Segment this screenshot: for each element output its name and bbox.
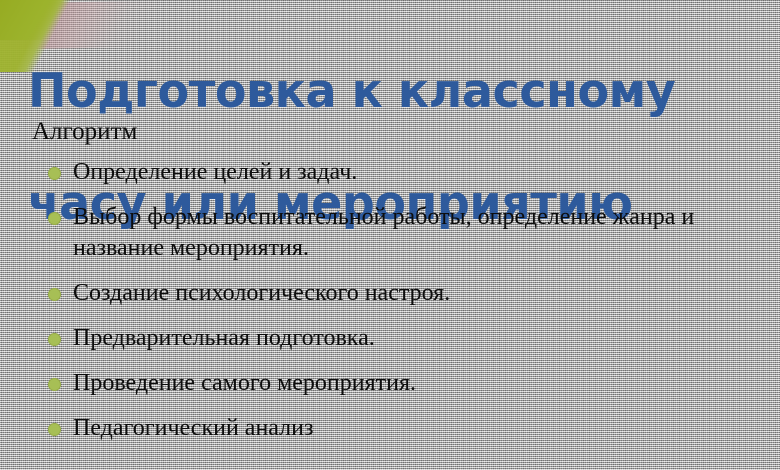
list-item-label: Предварительная подготовка. — [73, 325, 375, 351]
list-item: Выбор формы воспитательной работы, опред… — [32, 202, 744, 264]
list-item: Определение целей и задач. — [32, 157, 744, 188]
bullet-circle-icon — [48, 212, 61, 225]
body-heading: Алгоритм — [32, 118, 137, 146]
list-item-label: Педагогический анализ — [73, 415, 313, 441]
list-item: Предварительная подготовка. — [32, 323, 744, 354]
list-item-label: Определение целей и задач. — [73, 159, 357, 185]
list-item-label: Проведение самого мероприятия. — [73, 370, 416, 396]
list-item-label: Выбор формы воспитательной работы, опред… — [73, 204, 694, 261]
bullet-circle-icon — [48, 167, 61, 180]
list-item: Создание психологического настроя. — [32, 278, 744, 309]
slide-title-line-1: Подготовка к классному — [28, 64, 738, 120]
list-item: Педагогический анализ — [32, 413, 744, 444]
list-item: Проведение самого мероприятия. — [32, 368, 744, 399]
bullet-circle-icon — [48, 423, 61, 436]
bullet-circle-icon — [48, 288, 61, 301]
bullet-circle-icon — [48, 378, 61, 391]
presentation-slide: Подготовка к классному часу или мероприя… — [0, 0, 780, 470]
list-item-label: Создание психологического настроя. — [73, 280, 450, 306]
slide-content: Подготовка к классному часу или мероприя… — [0, 0, 780, 470]
bullet-circle-icon — [48, 333, 61, 346]
algorithm-bullet-list: Определение целей и задач. Выбор формы в… — [32, 157, 744, 458]
